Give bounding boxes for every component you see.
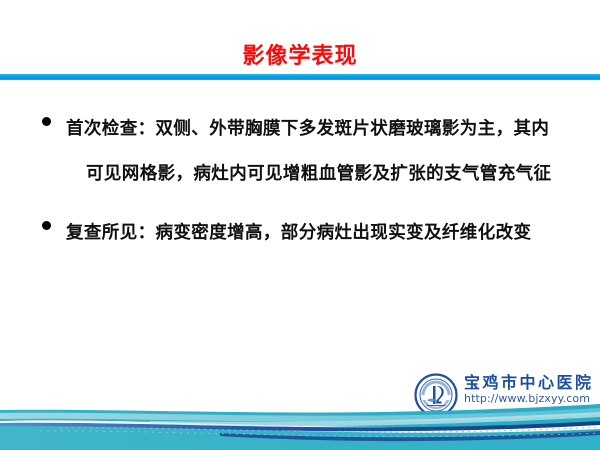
list-item-line: 复查所见：病变密度增高，部分病灶出现实变及纤维化改变 [66, 211, 576, 256]
page-title: 影像学表现 [0, 44, 600, 70]
bullet-dot-icon [42, 117, 51, 126]
list-item-line: 首次检查：双侧、外带胸膜下多发斑片状磨玻璃影为主，其内 [66, 107, 576, 152]
list-item: 首次检查：双侧、外带胸膜下多发斑片状磨玻璃影为主，其内 可见网格影，病灶内可见增… [36, 107, 576, 197]
title-divider [0, 74, 600, 80]
bullet-dot-icon [42, 221, 51, 230]
list-item: 复查所见：病变密度增高，部分病灶出现实变及纤维化改变 [36, 211, 576, 256]
bottom-wave-decoration [0, 390, 600, 450]
slide-canvas: 影像学表现 首次检查：双侧、外带胸膜下多发斑片状磨玻璃影为主，其内 可见网格影，… [0, 0, 600, 450]
list-item-line: 可见网格影，病灶内可见增粗血管影及扩张的支气管充气征 [66, 152, 576, 197]
content-bullet-list: 首次检查：双侧、外带胸膜下多发斑片状磨玻璃影为主，其内 可见网格影，病灶内可见增… [36, 107, 576, 270]
